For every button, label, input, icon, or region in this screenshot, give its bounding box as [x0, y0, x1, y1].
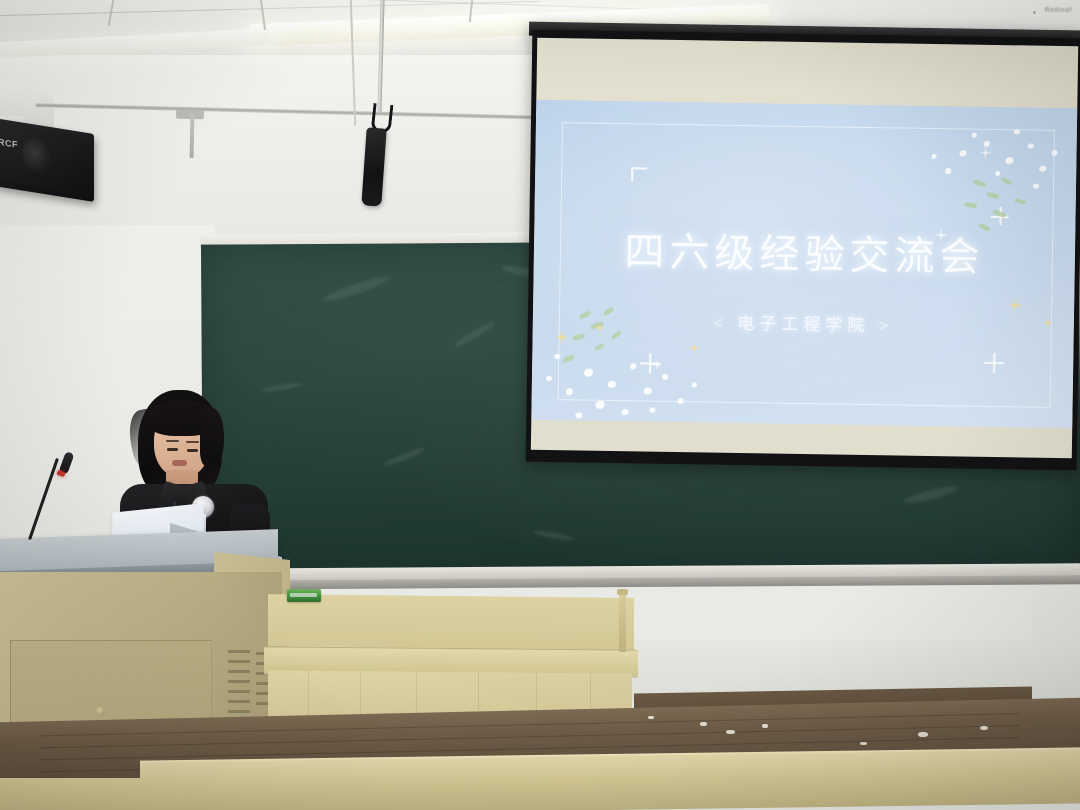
petal-deco-icon: [621, 409, 628, 415]
presenter-side-hair: [200, 408, 224, 466]
chalk-debris: [726, 730, 735, 734]
chalk-debris: [762, 724, 768, 728]
slide-subtitle-text: 电子工程学院: [737, 314, 869, 335]
podium-vent-slot: [228, 690, 250, 693]
podium-vent-slot: [228, 660, 250, 663]
petal-deco-icon: [584, 369, 593, 377]
classroom-presentation-photo: RCF: [0, 0, 1080, 810]
brand-dot-icon: [1033, 11, 1036, 14]
sparkle-star-icon: [975, 143, 995, 163]
podium-vent-slot: [228, 670, 250, 673]
chalk-smudge: [321, 273, 391, 305]
chalk-debris: [648, 716, 654, 719]
petal-deco-icon: [662, 374, 668, 380]
petal-deco-icon: [608, 381, 616, 388]
podium-vent-slot: [228, 710, 250, 713]
petal-deco-icon: [972, 133, 977, 138]
chalk-debris: [700, 722, 707, 726]
podium-vent-slot: [228, 680, 250, 683]
sparkle-star-icon: [684, 338, 704, 358]
chalk-smudge: [533, 529, 575, 542]
chalk-debris: [860, 742, 867, 745]
chalk-debris: [918, 732, 928, 737]
petal-deco-icon: [1033, 184, 1039, 189]
presentation-slide: 四六级经验交流会 < 电子工程学院 >: [531, 100, 1077, 428]
chalk-smudge: [383, 445, 426, 468]
podium-vent-slot: [228, 650, 250, 653]
petal-deco-icon: [945, 168, 951, 174]
chalk-smudge: [453, 320, 496, 349]
slide-title: 四六级经验交流会: [534, 218, 1076, 284]
chalk-smudge: [902, 483, 958, 506]
chalk-box-label: [290, 593, 317, 597]
presenter-eye: [187, 449, 198, 452]
classroom-desk-back: [268, 594, 634, 650]
petal-deco-icon: [575, 412, 582, 418]
petal-deco-icon: [595, 401, 604, 409]
petal-deco-icon: [678, 398, 684, 404]
petal-deco-icon: [995, 171, 1000, 176]
projection-screen-surface: 四六级经验交流会 < 电子工程学院 >: [531, 38, 1078, 458]
presenter-eye: [167, 448, 178, 451]
petal-deco-icon: [546, 376, 552, 381]
petal-deco-icon: [1005, 157, 1013, 164]
desk-corner-post: [619, 592, 626, 652]
projector-brand-label: Redleaf: [1045, 7, 1072, 14]
petal-deco-icon: [1028, 143, 1034, 148]
petal-deco-icon: [692, 382, 697, 387]
slide-subtitle-close-bracket: >: [878, 316, 893, 335]
rail-drop-bracket: [190, 114, 195, 158]
presenter-eyebrow: [186, 441, 199, 443]
podium-lock-knob[interactable]: [96, 707, 105, 716]
petal-deco-icon: [644, 387, 652, 394]
front-row-desk-left: [0, 778, 180, 810]
petal-deco-icon: [1052, 150, 1058, 156]
projection-screen[interactable]: 四六级经验交流会 < 电子工程学院 >: [526, 30, 1080, 471]
podium-vent-slot: [228, 700, 250, 703]
slide-subtitle-open-bracket: <: [713, 314, 728, 333]
petal-deco-icon: [931, 154, 936, 159]
petal-deco-icon: [959, 150, 966, 156]
petal-deco-icon: [630, 363, 636, 369]
petal-deco-icon: [566, 388, 573, 395]
chalk-debris: [980, 726, 988, 730]
sparkle-star-icon: [648, 356, 666, 374]
petal-deco-icon: [1039, 166, 1046, 172]
petal-deco-icon: [554, 354, 560, 359]
presenter-eyebrow: [166, 440, 179, 442]
petal-deco-icon: [1014, 129, 1020, 134]
desk-post-cap: [617, 589, 628, 595]
petal-deco-icon: [649, 408, 655, 413]
presenter-mouth: [172, 460, 187, 466]
